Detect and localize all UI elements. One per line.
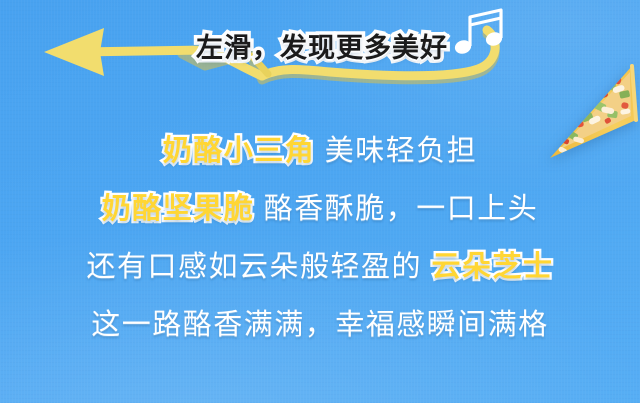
copy-line-3: 还有口感如云朵般轻盈的 云朵芝士 (0, 238, 640, 296)
copy-line-4-rest: 这一路酪香满满，幸福感瞬间满格 (91, 309, 549, 341)
copy-line-1-highlight: 奶酪小三角 (163, 135, 316, 167)
arrow-head-icon (44, 28, 104, 76)
copy-line-2-rest: 酪香酥脆，一口上头 (254, 193, 538, 225)
copy-line-4: 这一路酪香满满，幸福感瞬间满格 (0, 296, 640, 354)
promo-banner-canvas: 左滑，发现更多美好 (0, 0, 640, 403)
copy-line-3-rest: 还有口感如云朵般轻盈的 (86, 251, 431, 283)
copy-line-1: 奶酪小三角 美味轻负担 (0, 122, 640, 180)
copy-line-1-rest: 美味轻负担 (315, 135, 477, 167)
swipe-hint-text: 左滑，发现更多美好 (196, 26, 448, 65)
copy-line-2: 奶酪坚果脆 酪香酥脆，一口上头 (0, 180, 640, 238)
copy-line-3-highlight: 云朵芝士 (432, 251, 554, 283)
promo-copy-block: 奶酪小三角 美味轻负担 奶酪坚果脆 酪香酥脆，一口上头 还有口感如云朵般轻盈的 … (0, 122, 640, 354)
copy-line-2-highlight: 奶酪坚果脆 (102, 193, 255, 225)
